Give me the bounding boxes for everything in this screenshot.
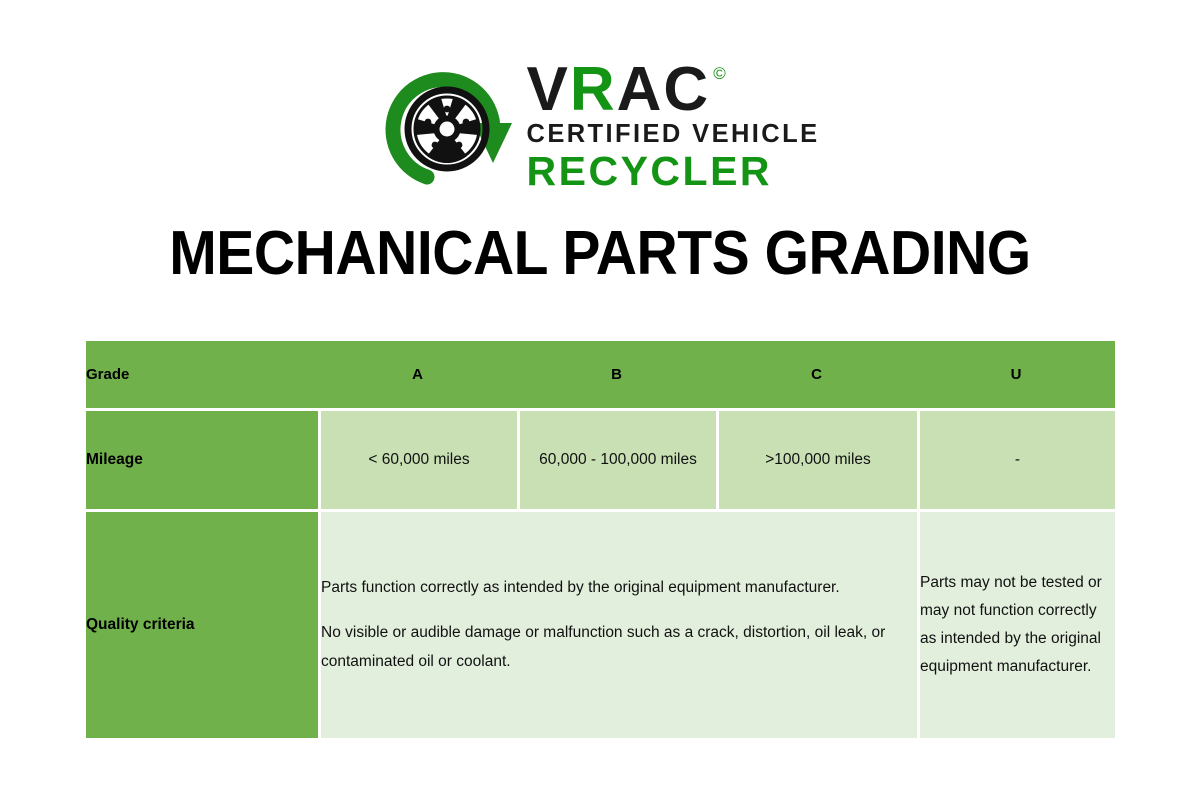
logo-wordmark-recycler: RECYCLER <box>527 150 820 193</box>
header-cell-b: B <box>517 341 716 408</box>
table-row-mileage: Mileage < 60,000 miles 60,000 - 100,000 … <box>86 411 1115 509</box>
quality-paragraph-2: No visible or audible damage or malfunct… <box>321 619 917 675</box>
logo-tagline: CERTIFIED VEHICLE <box>527 120 820 149</box>
table-row-quality-criteria: Quality criteria Parts function correctl… <box>86 512 1115 738</box>
mileage-cell-u: - <box>917 411 1115 509</box>
logo-letter-v: V <box>527 61 570 118</box>
mileage-cell-c: >100,000 miles <box>716 411 917 509</box>
copyright-icon: © <box>713 65 728 82</box>
mileage-cell-a: < 60,000 miles <box>318 411 517 509</box>
mechanical-parts-grading-table: Grade A B C U Mileage < 60,000 miles 60,… <box>86 341 1115 738</box>
logo-wordmark-vrac: VRAC© <box>527 61 820 118</box>
logo-letters-ac: AC <box>617 61 711 118</box>
header-cell-a: A <box>318 341 517 408</box>
brand-logo: VRAC© CERTIFIED VEHICLE RECYCLER <box>0 52 1200 202</box>
header-cell-u: U <box>917 341 1115 408</box>
quality-cell-u: Parts may not be tested or may not funct… <box>917 512 1115 738</box>
header-cell-c: C <box>716 341 917 408</box>
quality-paragraph-spacer <box>321 602 917 619</box>
page-title: MECHANICAL PARTS GRADING <box>48 218 1152 289</box>
row-label-quality-criteria: Quality criteria <box>86 512 318 738</box>
table-header-row: Grade A B C U <box>86 341 1115 408</box>
wheel-recycling-arrow-icon <box>381 67 513 195</box>
quality-cell-abc: Parts function correctly as intended by … <box>318 512 917 738</box>
row-label-mileage: Mileage <box>86 411 318 509</box>
quality-paragraph-1: Parts function correctly as intended by … <box>321 574 917 602</box>
mileage-cell-b: 60,000 - 100,000 miles <box>517 411 716 509</box>
header-cell-grade: Grade <box>86 341 318 408</box>
logo-letter-r: R <box>570 61 617 118</box>
